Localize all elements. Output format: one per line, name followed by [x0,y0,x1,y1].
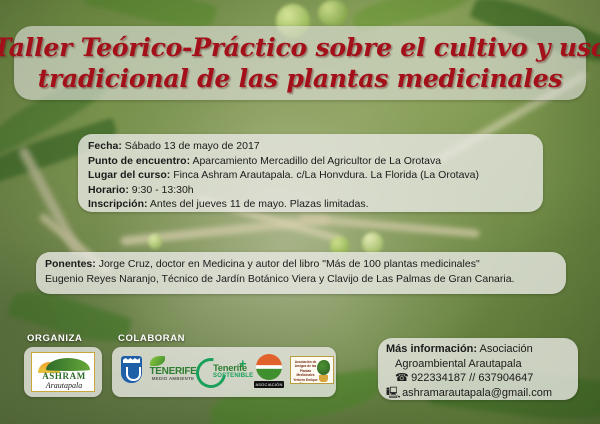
contact-phone-numbers: 922334187 // 637904647 [411,372,533,384]
detail-value-inscripcion: Antes del jueves 11 de mayo. Plazas limi… [150,198,369,210]
detail-row-lugar-del-curso: Lugar del curso: Finca Ashram Arautapala… [88,168,548,183]
detail-label-punto-de-encuentro: Punto de encuentro: [88,155,190,167]
title-line-2: tradicional de las plantas medicinales [38,64,563,94]
telephone-icon: ☎ [395,371,408,386]
crest-mark-icon [126,367,141,381]
ashram-wordmark: ASHRAM [35,371,93,381]
leaf-swoosh-icon [46,358,90,371]
logo-caption-bar: ASOCIACIÓN [254,381,284,388]
contact-phone-row: ☎ 922334187 // 637904647 [386,371,581,386]
tenerife-sostenible-logo: Tenerife + SOSTENIBLE [199,352,249,392]
pot-shape [319,375,328,382]
orange-circle-logo: ASOCIACIÓN [252,352,286,392]
speakers-line-1: Ponentes: Jorge Cruz, doctor en Medicina… [45,257,565,272]
mas-informacion-label: Más información: [386,343,477,355]
ashram-arautapala-logo: ASHRAM Arautapala [31,352,95,392]
contact-org-line-2: Agroambiental Arautapala [386,357,581,372]
speaker-1: Jorge Cruz, doctor en Medicina y autor d… [99,258,480,270]
detail-value-punto-de-encuentro: Aparcamiento Mercadillo del Agricultor d… [192,155,441,167]
detail-value-fecha: Sábado 13 de mayo de 2017 [125,140,260,152]
contact-email-row: 🖳 ashramarautapala@gmail.com [386,386,581,401]
plant-icon [317,360,330,382]
detail-row-punto-de-encuentro: Punto de encuentro: Aparcamiento Mercadi… [88,154,548,169]
title-line-1: Taller Teórico-Práctico sobre el cultivo… [0,33,600,63]
contact-info: Más información: Asociación Agroambienta… [386,342,581,400]
computer-icon: 🖳 [386,386,399,401]
detail-label-fecha: Fecha: [88,140,122,152]
sostenible-subtitle: SOSTENIBLE [213,373,253,379]
leaf-icon [150,356,165,366]
detail-label-inscripcion: Inscripción: [88,198,148,210]
cabildo-crest-icon [121,356,142,383]
detail-value-lugar-del-curso: Finca Ashram Arautapala. c/La Honvdura. … [173,169,479,181]
detail-row-horario: Horario: 9:30 - 13:30h [88,183,548,198]
yerbero-logo: Asociación de Amigos de las Plantas Medi… [290,352,334,392]
detail-row-inscripcion: Inscripción: Antes del jueves 11 de mayo… [88,197,548,212]
poster-root: Taller Teórico-Práctico sobre el cultivo… [0,0,600,424]
crown-icon [123,358,140,363]
speakers-label: Ponentes: [45,258,96,270]
arautapala-wordmark: Arautapala [35,381,93,390]
yerbero-logo-text: Asociación de Amigos de las Plantas Medi… [293,360,318,384]
contact-email: ashramarautapala@gmail.com [402,387,552,399]
tenerife-medio-ambiente-logo: TENERIFE MEDIO AMBIENTE [149,352,197,392]
detail-value-horario: 9:30 - 13:30h [132,184,194,196]
yerbero-logo-box: Asociación de Amigos de las Plantas Medi… [290,356,334,384]
medio-ambiente-subtitle: MEDIO AMBIENTE [149,376,197,381]
circle-icon [256,354,282,380]
foliage-shape [317,360,330,375]
contact-org-line-1: Más información: Asociación [386,342,581,357]
detail-label-horario: Horario: [88,184,129,196]
detail-row-fecha: Fecha: Sábado 13 de mayo de 2017 [88,139,548,154]
plus-icon: + [239,359,248,368]
speakers-text: Ponentes: Jorge Cruz, doctor en Medicina… [45,257,565,286]
detail-label-lugar-del-curso: Lugar del curso: [88,169,170,181]
page-title: Taller Teórico-Práctico sobre el cultivo… [14,24,586,102]
logo-caption: ASOCIACIÓN [254,381,284,388]
colaboran-label: COLABORAN [118,333,185,344]
speaker-2: Eugenio Reyes Naranjo, Técnico de Jardín… [45,272,565,287]
details-list: Fecha: Sábado 13 de mayo de 2017 Punto d… [88,139,548,212]
cabildo-tenerife-logo [118,352,146,392]
contact-org-name-part-1: Asociación [480,343,533,355]
organiza-label: ORGANIZA [27,333,82,344]
